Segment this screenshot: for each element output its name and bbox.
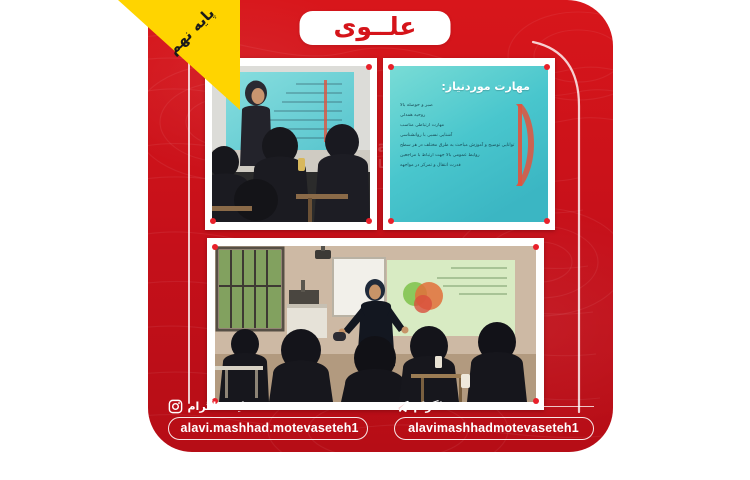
corner-dot: [210, 218, 216, 224]
telegram-handle[interactable]: alavimashhadmotevaseteh1: [394, 417, 594, 440]
slide-bullet: آشنایی نسبی با روانشناسی: [400, 133, 452, 138]
divider: [250, 406, 368, 407]
slide-title: مهارت موردنیاز:: [400, 80, 530, 93]
slide-bullet: روابط عمومی بالا جهت ارتباط با مراجعین: [400, 153, 480, 158]
telegram-icon: [394, 399, 409, 414]
social-block-telegram[interactable]: تلگرام alavimashhadmotevaseteh1: [394, 399, 594, 440]
corner-dot: [544, 218, 550, 224]
corner-dot: [544, 64, 550, 70]
corner-dot: [366, 218, 372, 224]
corner-dot: [533, 244, 539, 250]
photo-card-slide-required-skills[interactable]: مهارت موردنیاز: صبر و حوصله بالا روحیه ه…: [383, 58, 555, 230]
photo-image-classroom-presentation: [212, 66, 370, 222]
social-footer: تلگرام alavimashhadmotevaseteh1 اینستاگر…: [148, 374, 613, 440]
instagram-handle[interactable]: alavi.mashhad.motevaseteh1: [168, 417, 368, 440]
slide-bullet: صبر و حوصله بالا: [400, 103, 433, 108]
guide-line-left: [188, 52, 190, 404]
corner-dot: [212, 244, 218, 250]
slide-bullet: مهارت ارتباطی مناسب: [400, 123, 444, 128]
corner-dot: [366, 64, 372, 70]
photo-card-classroom-presentation[interactable]: [205, 58, 377, 230]
instagram-label: اینستاگرام: [188, 400, 245, 413]
telegram-label: تلگرام: [414, 400, 448, 413]
photo-image-slide: مهارت موردنیاز: صبر و حوصله بالا روحیه ه…: [390, 66, 548, 222]
instagram-icon: [168, 399, 183, 414]
slide-bullet: قدرت انتقال و تمرکز در مواجهه: [400, 163, 461, 168]
social-block-instagram[interactable]: اینستاگرام alavi.mashhad.motevaseteh1: [168, 399, 368, 440]
slide-bullet: توانایی توضیح و آموزش مباحث به طرق مختلف…: [400, 143, 514, 148]
page-title: علــوی: [334, 14, 417, 40]
telegram-label-row: تلگرام: [394, 399, 594, 414]
header-title-pill: علــوی: [300, 11, 451, 45]
slide-bullet: روحیه همدلی: [400, 113, 425, 118]
corner-dot: [388, 64, 394, 70]
divider: [452, 406, 593, 407]
poster-canvas: alavi.mashhad.motevaseteh1 دبیرستان گل ه…: [0, 0, 750, 480]
instagram-label-row: اینستاگرام: [168, 399, 368, 414]
corner-dot: [388, 218, 394, 224]
corner-dot: [210, 64, 216, 70]
